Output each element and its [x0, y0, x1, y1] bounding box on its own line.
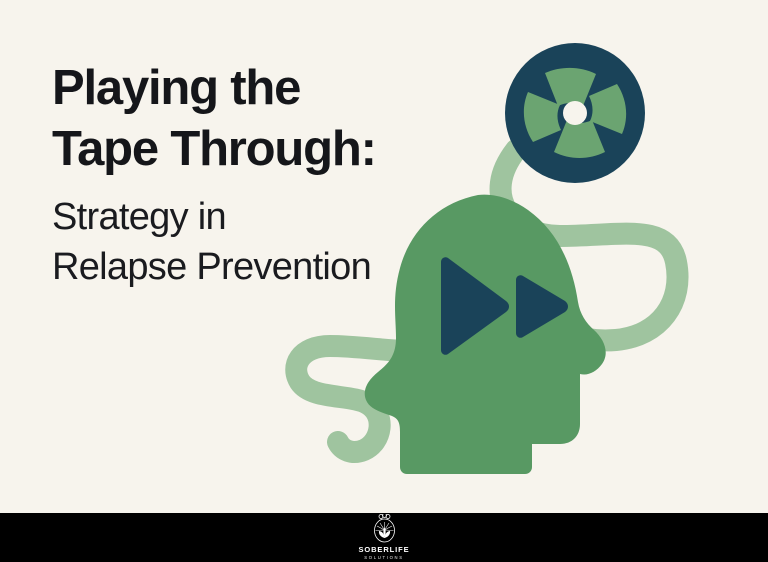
film-reel-icon — [505, 43, 645, 183]
brand-tagline: SOLUTIONS — [364, 554, 404, 561]
lotus-emblem-icon — [371, 514, 398, 544]
footer-bar: SOBERLIFE SOLUTIONS — [0, 513, 768, 562]
page-title: Playing the Tape Through: — [52, 58, 472, 180]
brand-name: SOBERLIFE — [358, 545, 409, 554]
reel-hub — [563, 101, 587, 125]
poster-canvas: Playing the Tape Through: Strategy in Re… — [0, 0, 768, 562]
brand-logo: SOBERLIFE SOLUTIONS — [0, 513, 768, 562]
headline-block: Playing the Tape Through: Strategy in Re… — [52, 58, 472, 292]
page-subtitle: Strategy in Relapse Prevention — [52, 192, 472, 292]
